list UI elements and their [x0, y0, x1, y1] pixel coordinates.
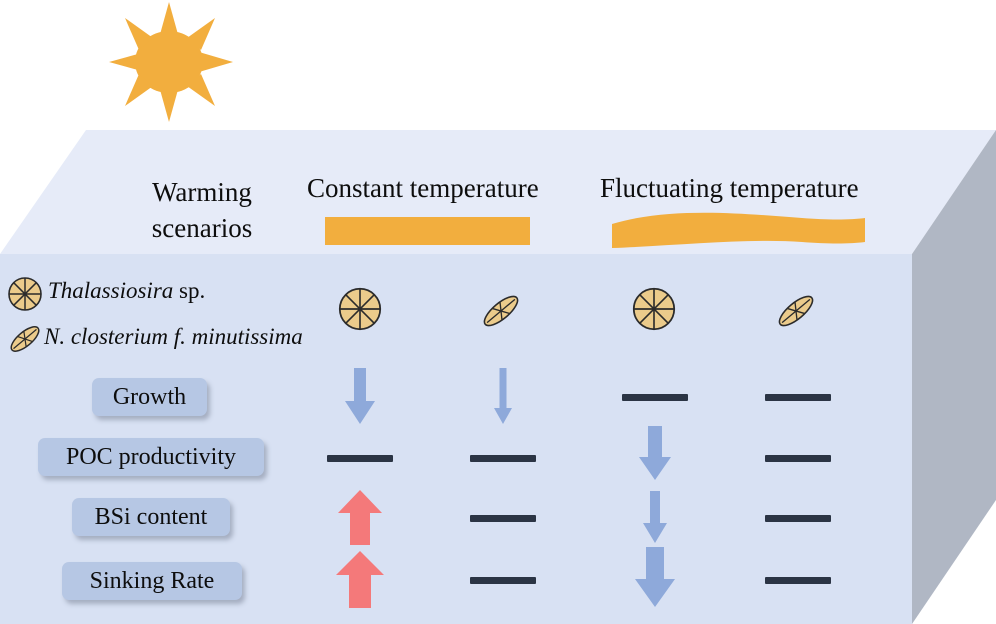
arrow-up-icon	[335, 550, 385, 610]
fluctuating-temperature-bar-icon	[612, 208, 865, 254]
cell-sinking-constant-nitzschia	[458, 550, 548, 610]
species-label-nitzschia: N. closterium f. minutissima	[44, 324, 303, 350]
cell-sinking-fluctuating-nitzschia	[753, 550, 843, 610]
arrow-down-icon	[493, 368, 513, 426]
warming-line-1: Warming	[152, 177, 252, 207]
no-change-dash-icon	[327, 455, 393, 462]
cell-growth-fluctuating-nitzschia	[753, 367, 843, 427]
column-icon-fluctuating-thalassiosira	[630, 285, 678, 333]
no-change-dash-icon	[470, 455, 536, 462]
cell-poc-constant-thalassiosira	[315, 428, 405, 488]
arrow-down-icon	[637, 426, 673, 482]
cell-bsi-constant-thalassiosira	[315, 488, 405, 548]
cell-sinking-constant-thalassiosira	[315, 550, 405, 610]
cell-growth-constant-nitzschia	[458, 367, 548, 427]
arrow-down-icon	[633, 547, 677, 609]
no-change-dash-icon	[765, 394, 831, 401]
circular-diatom-icon	[6, 275, 44, 313]
no-change-dash-icon	[765, 515, 831, 522]
scenario-title-constant: Constant temperature	[307, 172, 539, 204]
elliptical-diatom-icon	[6, 320, 44, 358]
cell-poc-fluctuating-nitzschia	[753, 428, 843, 488]
warming-scenarios-title: Warming scenarios	[112, 174, 292, 246]
no-change-dash-icon	[622, 394, 688, 401]
figure-canvas: Warming scenarios Constant temperature F…	[0, 0, 996, 624]
cell-growth-fluctuating-thalassiosira	[610, 367, 700, 427]
column-icon-constant-thalassiosira	[336, 285, 384, 333]
row-label-poc-productivity: POC productivity	[38, 438, 264, 476]
cell-bsi-fluctuating-thalassiosira	[610, 488, 700, 548]
cell-growth-constant-thalassiosira	[315, 367, 405, 427]
no-change-dash-icon	[765, 577, 831, 584]
cell-poc-fluctuating-thalassiosira	[610, 424, 700, 484]
species-label-thalassiosira: Thalassiosira sp.	[48, 278, 205, 304]
sun-icon	[95, 0, 250, 130]
arrow-down-icon	[641, 491, 669, 545]
cell-bsi-fluctuating-nitzschia	[753, 488, 843, 548]
species-name-roman: sp.	[173, 278, 205, 303]
row-label-growth: Growth	[92, 378, 207, 416]
arrow-down-icon	[343, 368, 377, 426]
no-change-dash-icon	[470, 577, 536, 584]
column-icon-constant-nitzschia	[478, 288, 524, 334]
cell-poc-constant-nitzschia	[458, 428, 548, 488]
species-name-italic: Thalassiosira	[48, 278, 173, 303]
warming-line-2: scenarios	[152, 213, 252, 243]
cell-sinking-fluctuating-thalassiosira	[610, 548, 700, 608]
arrow-up-icon	[337, 489, 383, 547]
row-label-sinking-rate: Sinking Rate	[62, 562, 242, 600]
scenario-title-fluctuating: Fluctuating temperature	[600, 172, 859, 204]
cell-bsi-constant-nitzschia	[458, 488, 548, 548]
no-change-dash-icon	[765, 455, 831, 462]
column-icon-fluctuating-nitzschia	[773, 288, 819, 334]
constant-temperature-bar-icon	[325, 215, 530, 247]
row-label-bsi-content: BSi content	[72, 498, 230, 536]
no-change-dash-icon	[470, 515, 536, 522]
